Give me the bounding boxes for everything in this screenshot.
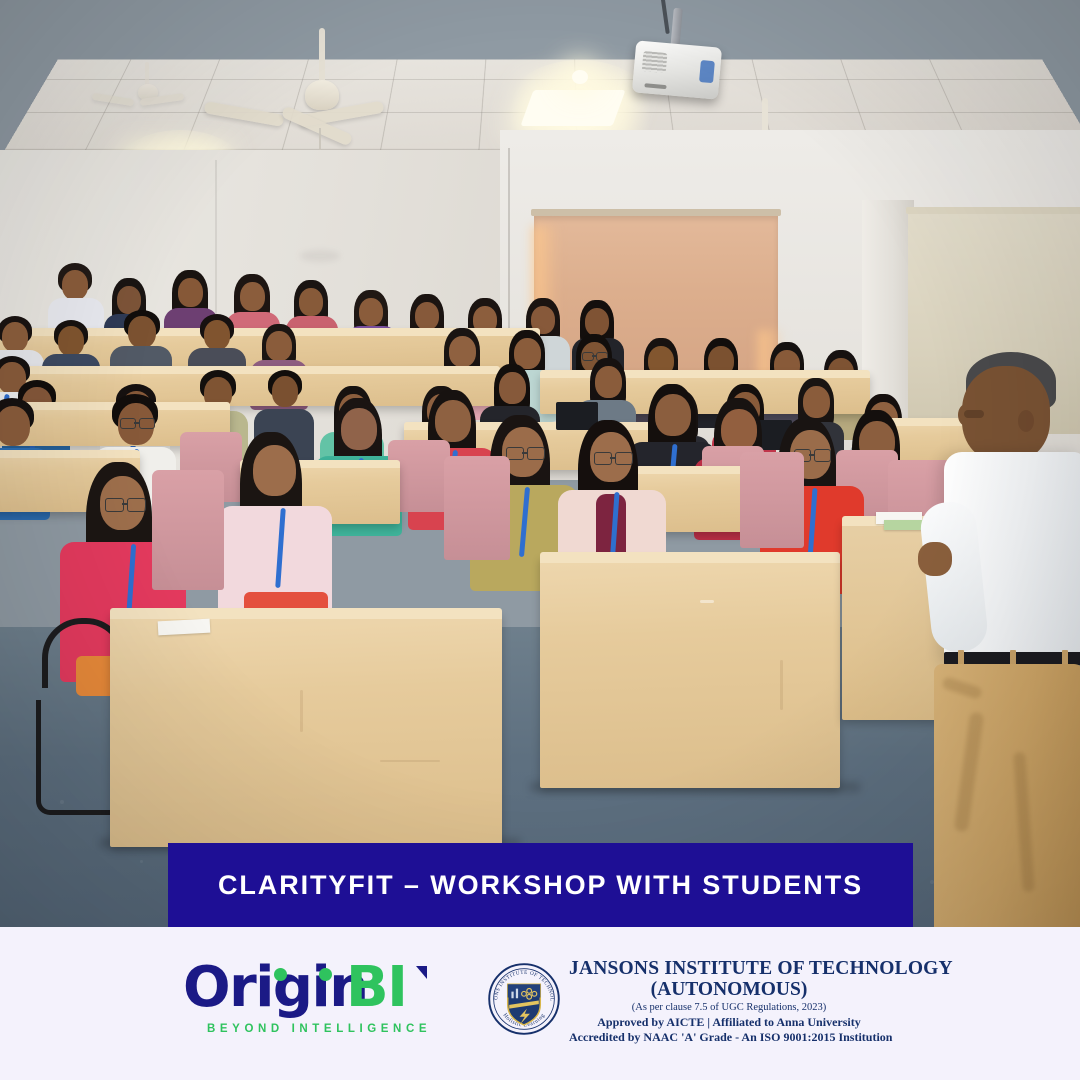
workshop-photo	[0, 0, 1080, 927]
lecture-desk-front	[110, 612, 502, 847]
ceiling-fan	[262, 28, 382, 148]
desk-top	[110, 608, 502, 619]
college-name-line2: (AUTONOMOUS)	[569, 979, 889, 1000]
college-accreditation: Accredited by NAAC 'A' Grade - An ISO 90…	[569, 1030, 889, 1045]
blind-headrail	[906, 207, 1080, 214]
projector-cable	[660, 0, 670, 34]
originbi-logo: Origin BI BEYOND INTELLIGENCE	[183, 960, 433, 1038]
brand-origin-text: Origin	[183, 960, 368, 1016]
desk-top	[540, 552, 840, 563]
college-ugc-clause: (As per clause 7.5 of UGC Regulations, 2…	[569, 1001, 889, 1015]
poster-root: CLARITYFIT – WORKSHOP WITH STUDENTS Orig…	[0, 0, 1080, 1080]
projector	[632, 40, 722, 99]
logo-triangle-accent	[416, 966, 427, 979]
projector-lens	[699, 60, 715, 83]
college-block: JANSONS INSTITUTE OF TECHNOLOGY Holistic…	[487, 958, 887, 1044]
paper-sheet	[158, 619, 211, 636]
desk-top	[0, 366, 500, 374]
lecture-desk-front	[540, 556, 840, 788]
title-text: CLARITYFIT – WORKSHOP WITH STUDENTS	[218, 870, 863, 901]
jansons-institute-seal-icon: JANSONS INSTITUTE OF TECHNOLOGY Holistic…	[487, 962, 561, 1036]
seat-back	[152, 470, 224, 590]
college-name-line1: JANSONS INSTITUTE OF TECHNOLOGY	[569, 958, 889, 979]
ceiling-light	[572, 70, 588, 84]
brand-tagline: BEYOND INTELLIGENCE	[207, 1023, 431, 1035]
projector-indicator	[644, 83, 666, 89]
title-banner: CLARITYFIT – WORKSHOP WITH STUDENTS	[168, 843, 913, 927]
paper-sheet	[884, 520, 924, 530]
ceiling-fan	[118, 62, 178, 122]
desk-top	[0, 450, 140, 458]
college-text-block: JANSONS INSTITUTE OF TECHNOLOGY (AUTONOM…	[569, 958, 889, 1044]
logo-dot-i	[274, 968, 287, 981]
college-approval: Approved by AICTE | Affiliated to Anna U…	[569, 1015, 889, 1030]
ceiling-light	[520, 90, 625, 126]
brand-bi-text: BI	[346, 960, 407, 1016]
logo-dot-i	[319, 968, 332, 981]
projector-vent	[642, 51, 668, 73]
seat-back	[444, 456, 510, 560]
seat-back	[740, 452, 804, 548]
blind-headrail	[531, 209, 781, 216]
wall-mark	[300, 250, 340, 262]
